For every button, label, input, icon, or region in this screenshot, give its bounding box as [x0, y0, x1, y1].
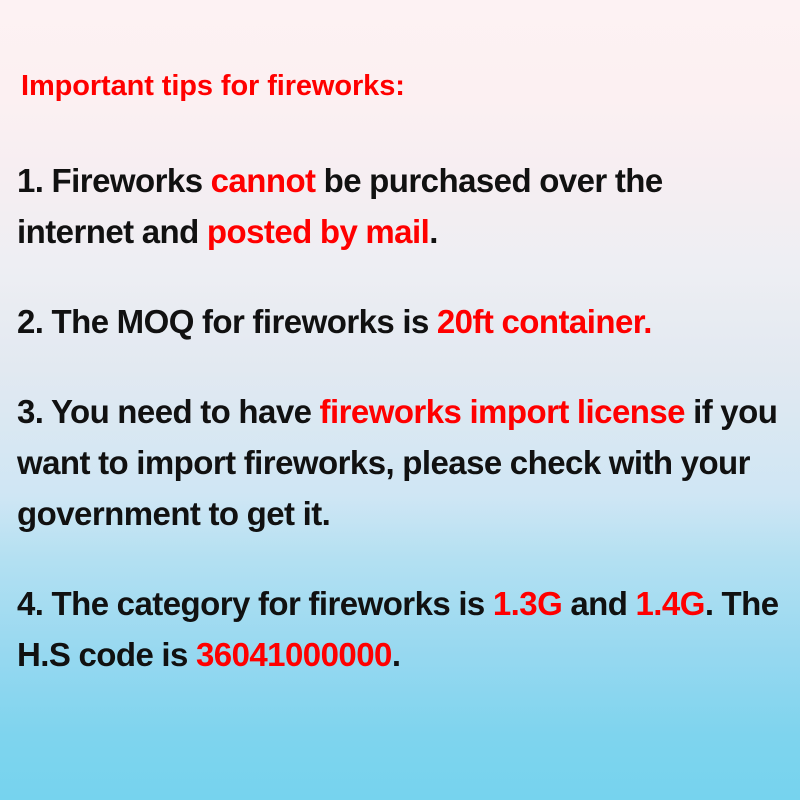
tip-item: 2. The MOQ for fireworks is 20ft contain… [17, 296, 787, 347]
tip-highlight-text: 20ft container. [437, 303, 652, 340]
tip-text: The category for fireworks is [52, 585, 493, 622]
tip-text: You need to have [51, 393, 320, 430]
tip-number: 3. [17, 393, 43, 430]
tip-number: 4. [17, 585, 43, 622]
tip-text: and [562, 585, 635, 622]
tip-text: . [392, 636, 401, 673]
tip-number: 2. [17, 303, 43, 340]
page-title: Important tips for fireworks: [21, 69, 405, 103]
tip-item: 1. Fireworks cannot be purchased over th… [17, 155, 787, 257]
tip-item: 3. You need to have fireworks import lic… [17, 386, 787, 539]
tip-highlight-text: 1.4G [635, 585, 704, 622]
tip-highlight-text: fireworks import license [320, 393, 685, 430]
tip-item: 4. The category for fireworks is 1.3G an… [17, 578, 787, 680]
fireworks-tips-poster: Important tips for fireworks: 1. Firewor… [0, 0, 800, 800]
tip-number: 1. [17, 162, 43, 199]
tip-text: The MOQ for fireworks is [52, 303, 437, 340]
tip-highlight-text: 1.3G [493, 585, 562, 622]
tips-list: 1. Fireworks cannot be purchased over th… [17, 155, 787, 680]
tip-highlight-text: posted by mail [207, 213, 429, 250]
tip-highlight-text: cannot [211, 162, 316, 199]
tip-text: . [429, 213, 438, 250]
tip-highlight-text: 36041000000 [196, 636, 392, 673]
tip-text: Fireworks [52, 162, 211, 199]
